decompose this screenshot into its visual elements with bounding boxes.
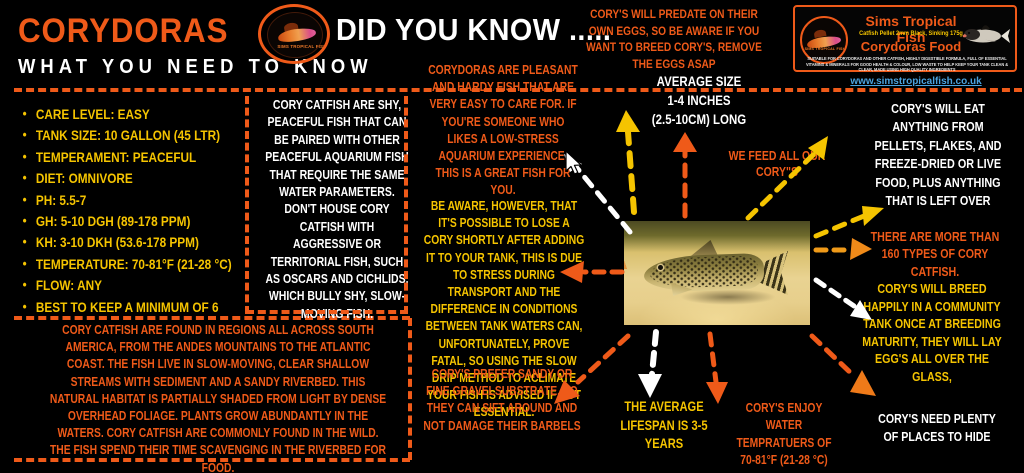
habitat-paragraph: CORY CATFISH ARE FOUND IN REGIONS ALL AC… [46,322,390,473]
divider-habitat-bottom [14,458,410,462]
logo-fish-icon [277,26,316,43]
arrow-to-species-count-icon [814,232,876,266]
divider-vertical-mid [404,96,408,314]
product-fish-photo-icon [959,19,1011,49]
arrow-to-egg-predation-icon [668,128,702,220]
list-item: TANK SIZE: 10 GALLON (45 LTR) [20,125,231,146]
logo-inner-disc: SIMS TROPICAL FISH [267,12,323,58]
page-title: CORYDORAS [18,12,228,51]
corydoras-photo [624,221,810,325]
infographic-poster: CORYDORAS WHAT YOU NEED TO KNOW DID YOU … [0,0,1024,473]
divider-vertical-left [245,96,249,314]
list-item: CARE LEVEL: EASY [20,104,231,125]
arrow-to-average-size-icon [612,104,652,216]
divider-tankmates-bottom [246,310,408,314]
diet-paragraph: CORY'S WILL EAT ANYTHING FROM PELLETS, F… [867,100,1008,210]
hiding-places-text: CORY'S NEED PLENTY OF PLACES TO HIDE [874,410,1000,445]
product-fine-print: SUITABLE FOR CORYDORAS AND OTHER CATFISH… [804,56,1010,73]
arrow-to-hiding-icon [806,330,882,406]
website-url-link[interactable]: www.simstropicalfish.co.uk [836,76,996,87]
list-item: TEMPERATURE: 70-81°F (21-28 °C) [20,254,231,275]
arrow-to-water-temp-icon [694,330,738,410]
product-name: Corydoras Food [851,39,971,54]
care-facts-list: CARE LEVEL: EASY TANK SIZE: 10 GALLON (4… [20,104,260,318]
fish-eye-shape [658,265,663,270]
arrow-to-breeding-icon [812,272,878,328]
water-temperature-text: CORY'S ENJOY WATER TEMPRATUERS OF 70-81°… [732,400,837,470]
list-item: BEST TO KEEP A MINIMUM OF 6 [20,297,231,318]
divider-vertical-habitat [408,318,412,460]
arrow-to-lifespan-icon [628,328,674,402]
list-item: PH: 5.5-7 [20,190,231,211]
list-item: FLOW: ANY [20,275,231,296]
page-subtitle: WHAT YOU NEED TO KNOW [18,56,373,79]
product-logo-text: SIMS TROPICAL FISH [803,47,847,51]
arrow-to-substrate-icon [548,330,634,414]
list-item: TEMPERAMENT: PEACEFUL [20,147,231,168]
egg-predation-paragraph: CORY'S WILL PREDATE ON THEIR OWN EGGS, S… [585,6,762,72]
photo-shadow-decor [680,289,776,305]
brand-logo-icon: SIMS TROPICAL FISH [258,4,330,64]
product-callout-box[interactable]: SIMS TROPICAL FISH Sims Tropical Fish Ca… [793,5,1017,72]
mouse-cursor-icon [564,150,584,176]
list-item: KH: 3-10 DKH (53.6-178 PPM) [20,232,231,253]
did-you-know-heading: DID YOU KNOW ..... [336,12,611,48]
list-item: DIET: OMNIVORE [20,168,231,189]
tankmates-paragraph: CORY CATFISH ARE SHY, PEACEFUL FISH THAT… [264,96,410,322]
product-variant: Catfish Pellet 2mm Black, Sinking 175g [857,30,965,37]
arrow-to-acclimate-icon [556,250,626,294]
list-item: GH: 5-10 DGH (89-178 PPM) [20,211,231,232]
logo-brand-text: SIMS TROPICAL FISH [273,44,330,49]
